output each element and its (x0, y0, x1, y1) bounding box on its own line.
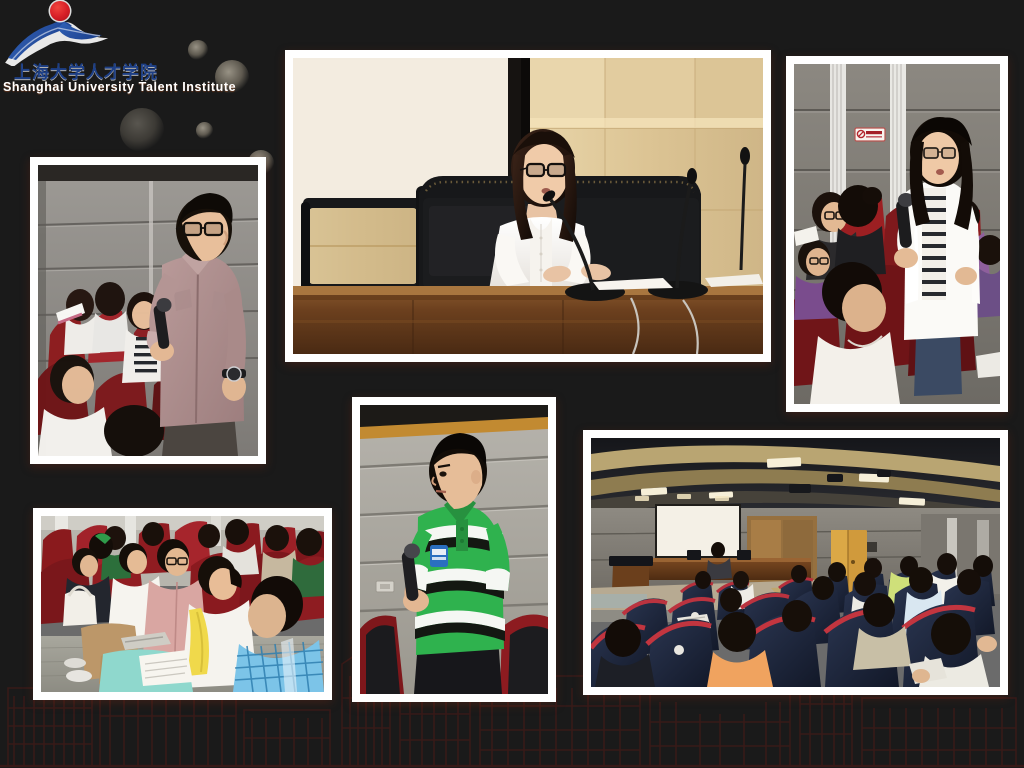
shanghai-university-talent-institute-logo[interactable]: 上海大学人才学院 Shanghai University Talent Inst… (2, 0, 202, 100)
scene-female-questioner (794, 64, 1000, 404)
photo-seated-audience-in-red-chairs[interactable]: Several students seated in red lecture-h… (33, 508, 332, 700)
photo-image-area (293, 58, 763, 354)
photo-image-area (794, 64, 1000, 404)
bokeh-light-5 (120, 108, 164, 152)
photo-image-area (38, 165, 258, 456)
collage-canvas: Young woman with glasses in a white blou… (0, 0, 1024, 768)
no-smoking-sign (855, 128, 885, 141)
photo-standing-female-student-with-microphone[interactable]: Standing woman in a white blazer and str… (786, 56, 1008, 412)
photo-image-area (591, 438, 1000, 687)
photo-standing-male-student-with-microphone[interactable]: Standing male student in glasses and a m… (30, 157, 266, 464)
photo-image-area (41, 516, 324, 692)
photo-wide-view-of-lecture-hall[interactable]: Wide view of the lecture hall from the b… (583, 430, 1008, 695)
photo-image-area (360, 405, 548, 694)
scene-male-questioner (38, 165, 258, 456)
photo-male-student-green-striped-shirt[interactable]: Male student in a green and white stripe… (352, 397, 556, 702)
scene-speaker-podium (293, 58, 763, 354)
scene-hall-wide (591, 438, 1000, 687)
bokeh-light-4 (196, 122, 213, 139)
logo-mark-icon (2, 0, 202, 66)
photo-female-speaker-at-head-table[interactable]: Young woman with glasses in a white blou… (285, 50, 771, 362)
scene-green-shirt-speaker (360, 405, 548, 694)
logo-english-name: Shanghai University Talent Institute (3, 80, 236, 94)
scene-audience-rows (41, 516, 324, 692)
